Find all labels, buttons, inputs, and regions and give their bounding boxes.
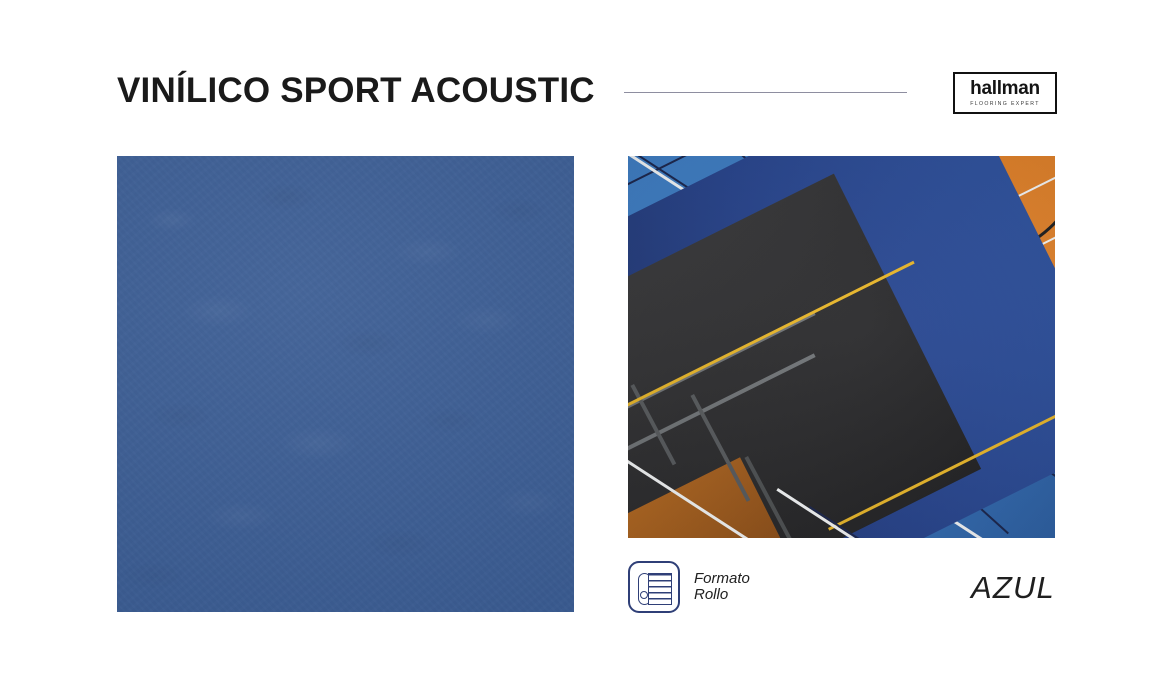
format-group: Formato Rollo: [628, 561, 750, 613]
format-text: Formato Rollo: [694, 571, 750, 604]
header-divider-rule: [624, 92, 907, 93]
swatch-sheen-overlay: [117, 156, 574, 612]
roll-icon: [628, 561, 680, 613]
roll-icon-knob: [640, 591, 648, 599]
product-sheet-page: VINÍLICO SPORT ACOUSTIC hallman FLOORING…: [0, 0, 1176, 688]
brand-logo: hallman FLOORING EXPERT: [953, 72, 1057, 114]
brand-tagline: FLOORING EXPERT: [970, 101, 1039, 107]
format-value: Rollo: [694, 587, 750, 604]
color-name: AZUL: [971, 570, 1055, 606]
page-title: VINÍLICO SPORT ACOUSTIC: [117, 70, 595, 112]
photo-vignette: [628, 156, 1055, 538]
color-swatch: [117, 156, 574, 612]
brand-name: hallman: [970, 79, 1040, 98]
product-photo: [628, 156, 1055, 538]
roll-icon-sheet: [648, 573, 672, 605]
format-label: Formato: [694, 571, 750, 588]
